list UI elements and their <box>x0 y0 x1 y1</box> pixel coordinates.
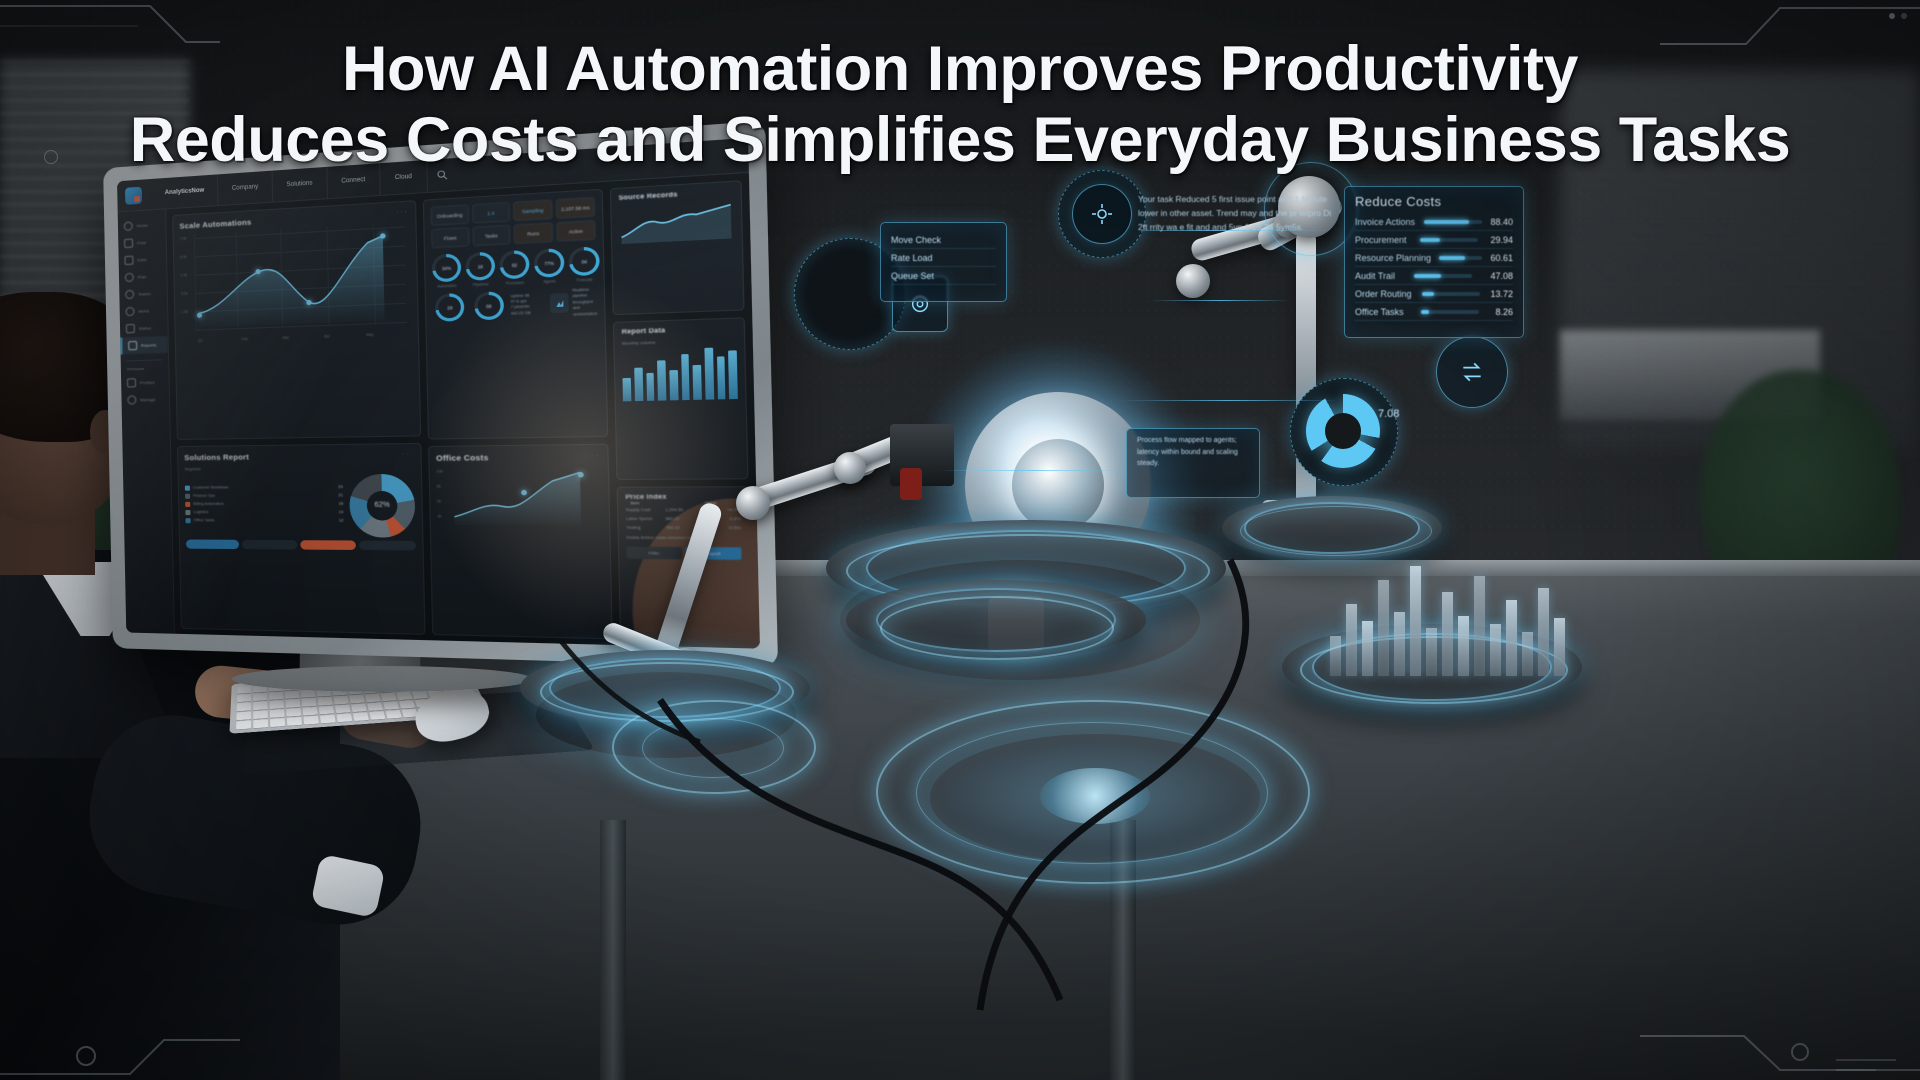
card-solutions-report[interactable]: ··· Solutions Report Segment Customer Wo… <box>177 443 426 635</box>
cell: +2.5% <box>705 526 741 531</box>
donut-center-value: 62% <box>349 474 416 538</box>
cell: Labor Spend <box>626 517 661 522</box>
card-source-records[interactable]: Source Records <box>610 180 745 315</box>
kpi-cell[interactable]: Sampling <box>513 199 552 221</box>
sidebar-item-reports[interactable]: Reports <box>120 336 168 355</box>
x-tick: Mar <box>282 336 289 340</box>
metric-pills <box>186 539 416 550</box>
y-tick: 7.5k <box>180 237 187 241</box>
sidebar-label: Profiles <box>140 380 155 385</box>
sidebar-item-status[interactable]: Status <box>120 319 168 338</box>
kpi-cell[interactable]: Runs <box>514 222 553 244</box>
card-kpi-panel[interactable]: ·· Onboarding 1.4 Sampling 2,107.58 ms F… <box>423 189 609 440</box>
kpi-cell[interactable]: Active <box>556 220 596 242</box>
dashboard-column-mid: ·· Onboarding 1.4 Sampling 2,107.58 ms F… <box>423 189 613 640</box>
card-subtitle: Segment <box>184 464 414 471</box>
kpi-side-note: Realtime pipeline throughput and orchest… <box>572 287 597 318</box>
card-price-index[interactable]: Price Index Item Value Delta Supply Cost… <box>617 487 752 643</box>
gauge: 34%Automation <box>432 253 462 289</box>
gauge-row-secondary: 29 08 Uptime 98 97.6 ops 7 jobs/min 442.… <box>433 287 598 323</box>
dashboard-body[interactable]: Home Flow Data Plan Teams Items Status R… <box>118 173 760 649</box>
dashboard-sidebar[interactable]: Home Flow Data Plan Teams Items Status R… <box>118 209 175 634</box>
gauge: 29 <box>433 293 468 322</box>
bars-icon <box>124 256 133 265</box>
monitor-base <box>232 666 532 692</box>
filter-button[interactable]: Filter <box>627 546 682 559</box>
sidebar-label: Manage <box>140 397 156 402</box>
donut-chart: 62% <box>349 474 416 538</box>
kpi-cell[interactable]: 1.4 <box>472 202 511 224</box>
card-title: Report Data <box>622 326 737 337</box>
y-tick: 6.0k <box>180 255 187 259</box>
dashboard-column-left: ··· Scale Automations 7.5k 6.0k 4.5k 3.0… <box>172 200 425 635</box>
kpi-cell[interactable]: Onboarding <box>431 204 469 225</box>
app-logo-icon <box>125 186 142 204</box>
manage-icon <box>127 395 136 404</box>
x-tick: Apr <box>324 334 330 338</box>
kpi-cell[interactable]: Flows <box>431 227 469 248</box>
y-tick: 4.5k <box>180 273 187 277</box>
cell: 1,204.50 <box>665 508 700 512</box>
bar <box>669 370 678 400</box>
gauge-label: Processes <box>506 281 524 286</box>
gauge-value: 04 <box>581 258 587 264</box>
gauge-value: 34% <box>442 265 451 271</box>
sidebar-label: Teams <box>138 291 151 297</box>
monitor: AnalyticsNow Company Solutions Connect C… <box>103 121 778 668</box>
bar <box>646 373 655 401</box>
legend-label: Logistics <box>193 510 335 514</box>
items-icon <box>126 307 135 316</box>
table-row[interactable]: Labor Spend 980.22 -1.8% <box>626 515 741 524</box>
y-tick: 3.0k <box>181 291 188 295</box>
flow-icon <box>124 239 133 249</box>
card-title: Solutions Report <box>184 450 414 462</box>
legend-row: Finance Ops21 <box>185 493 343 499</box>
gauge-row: 34%Automation 18Pipelines 62Processes 77… <box>432 246 597 288</box>
gauge: 04Forecast <box>569 246 600 283</box>
donut-legend: Customer Workflows23 Finance Ops21 Billi… <box>185 485 344 527</box>
card-office-costs[interactable]: ·· Office Costs 10k 8k 6k 4k <box>428 444 613 639</box>
sidebar-label: Data <box>137 257 146 263</box>
page-title: How AI Automation Improves Productivity … <box>0 34 1920 175</box>
area-chart: 7.5k 6.0k 4.5k 3.0k 1.5k <box>180 222 412 345</box>
bar <box>657 360 666 401</box>
table-row[interactable]: Tooling 764.10 +2.5% <box>626 524 741 533</box>
legend-value: 21 <box>338 494 343 498</box>
sidebar-label: Reports <box>141 342 156 348</box>
y-tick: 6k <box>437 500 441 504</box>
dashboard-column-right: Source Records Report Data <box>610 180 752 643</box>
status-icon <box>126 324 135 333</box>
hero-banner: /*keys injected*/ AnalyticsNow Company S… <box>0 0 1920 1080</box>
activity-icon <box>550 293 569 313</box>
gauge-value: 62 <box>512 262 517 268</box>
cell: +4.2% <box>705 508 741 513</box>
bar-chart <box>622 347 738 401</box>
kpi-grid[interactable]: Onboarding 1.4 Sampling 2,107.58 ms Flow… <box>431 197 596 248</box>
sidebar-item-manage[interactable]: Manage <box>121 390 169 408</box>
gauge: 08 <box>471 292 506 321</box>
office-costs-chart: 10k 8k 6k 4k <box>436 466 602 534</box>
card-title: Office Costs <box>436 452 601 463</box>
cell: Tooling <box>626 526 661 531</box>
desk-leg <box>1110 820 1136 1080</box>
card-scale-automations[interactable]: ··· Scale Automations 7.5k 6.0k 4.5k 3.0… <box>172 200 421 440</box>
sidebar-item-profiles[interactable]: Profiles <box>121 373 169 391</box>
sidebar-label: Items <box>138 308 149 313</box>
sidebar-divider <box>127 359 163 361</box>
gauge: 77%Agents <box>534 248 565 284</box>
reports-icon <box>128 341 137 350</box>
x-tick: May <box>366 333 373 337</box>
gauge-label: Agents <box>543 279 555 284</box>
desk-leg <box>600 820 626 1080</box>
card-subtitle: Monthly volume <box>622 337 737 346</box>
dashboard-content[interactable]: ··· Scale Automations 7.5k 6.0k 4.5k 3.0… <box>166 173 760 649</box>
gauge-value: 08 <box>486 304 491 310</box>
legend-label: Customer Workflows <box>193 485 335 490</box>
kpi-notes: Uptime 98 97.6 ops 7 jobs/min 442.02 GB <box>510 292 546 317</box>
legend-value: 14 <box>339 510 344 514</box>
headline-line-1: How AI Automation Improves Productivity <box>0 34 1920 105</box>
kpi-note: 442.02 GB <box>511 310 546 317</box>
bar <box>681 354 690 400</box>
legend-row: Billing Automation18 <box>185 501 343 506</box>
gauge-label: Forecast <box>577 277 593 282</box>
y-tick: 1.5k <box>181 310 188 314</box>
x-tick: Feb <box>242 337 248 341</box>
gauge: 62Processes <box>499 250 530 286</box>
legend-value: 18 <box>339 502 344 506</box>
teams-icon <box>125 290 134 299</box>
nav-item-0[interactable]: AnalyticsNow <box>152 174 219 209</box>
plan-icon <box>125 273 134 282</box>
legend-label: Billing Automation <box>193 502 335 506</box>
cell: 980.22 <box>665 517 700 522</box>
bar <box>693 364 702 400</box>
gauge-label: Pipelines <box>473 282 489 287</box>
gauge-value: 29 <box>447 305 452 311</box>
legend-value: 12 <box>339 519 344 523</box>
cell: 764.10 <box>665 526 700 531</box>
nav-item-1[interactable]: Company <box>218 171 273 205</box>
legend-row: Logistics14 <box>185 510 343 515</box>
y-tick: 4k <box>437 515 441 519</box>
sidebar-label: Plan <box>138 274 147 279</box>
monitor-screen[interactable]: AnalyticsNow Company Solutions Connect C… <box>117 138 760 649</box>
headline-line-2: Reduces Costs and Simplifies Everyday Bu… <box>0 105 1920 176</box>
cell: -1.8% <box>705 517 741 522</box>
legend-value: 23 <box>338 485 343 489</box>
gauge-label: Automation <box>437 284 456 289</box>
bar <box>634 368 643 402</box>
sidebar-label: Flow <box>137 240 146 246</box>
profiles-icon <box>127 378 136 387</box>
bar <box>728 350 737 399</box>
donut-chart-block: Customer Workflows23 Finance Ops21 Billi… <box>185 474 416 538</box>
gauge-value: 77% <box>544 260 554 266</box>
kpi-cell[interactable]: 2,107.58 ms <box>555 197 595 219</box>
home-icon <box>124 221 133 231</box>
sidebar-label: Status <box>139 325 152 331</box>
legend-row: Customer Workflows23 <box>185 485 343 491</box>
bar <box>623 378 632 401</box>
bar <box>716 356 725 399</box>
sidebar-item-teams[interactable]: Teams <box>119 284 167 303</box>
gauge: 18Pipelines <box>465 252 495 288</box>
legend-label: Finance Ops <box>193 494 335 499</box>
x-tick: Q1 <box>198 339 203 343</box>
card-footer-note: Details limited; totals refreshed hourly <box>626 536 741 543</box>
bar <box>704 348 713 400</box>
sparkline <box>619 200 734 244</box>
sidebar-item-items[interactable]: Items <box>120 301 168 320</box>
kpi-cell[interactable]: Tasks <box>472 225 511 246</box>
legend-label: Office Tasks <box>194 518 336 522</box>
y-tick: 10k <box>436 470 443 474</box>
sidebar-label: Home <box>137 223 148 229</box>
legend-row: Office Tasks12 <box>186 518 344 523</box>
analytics-dashboard[interactable]: AnalyticsNow Company Solutions Connect C… <box>117 138 760 649</box>
card-report-data[interactable]: Report Data Monthly volume <box>613 317 748 480</box>
y-tick: 8k <box>437 485 441 489</box>
table-row[interactable]: Supply Cost 1,204.50 +4.2% <box>626 506 741 515</box>
sidebar-section-label: Workspace <box>121 366 169 371</box>
gauge-value: 18 <box>478 263 483 269</box>
export-button[interactable]: Export <box>685 547 741 560</box>
cell: Supply Cost <box>626 508 661 512</box>
